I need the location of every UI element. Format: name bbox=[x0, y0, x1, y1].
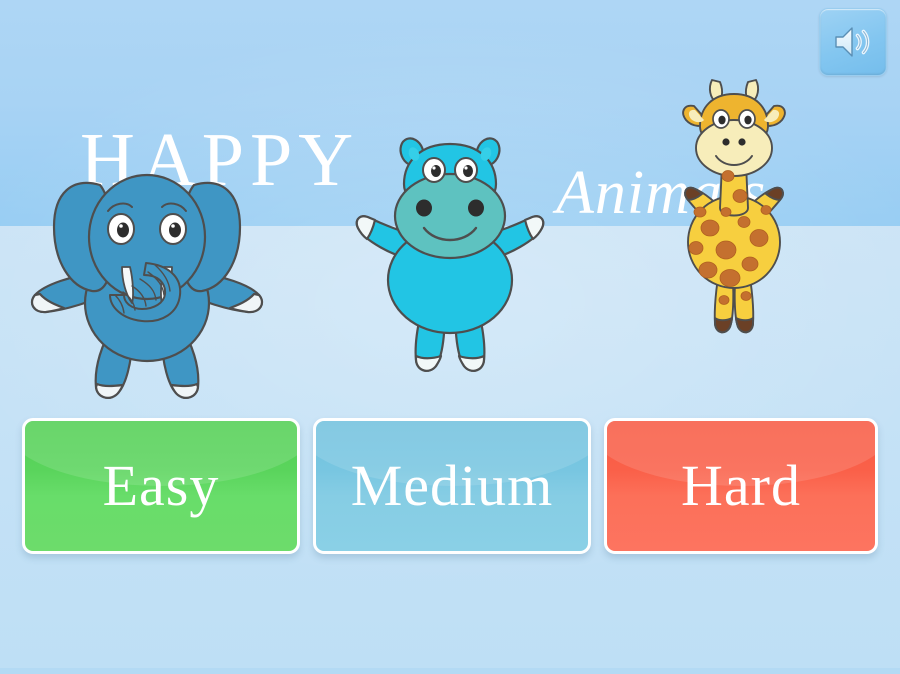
difficulty-button-easy-label: Easy bbox=[103, 457, 220, 515]
difficulty-button-row: Easy Medium Hard bbox=[0, 418, 900, 558]
difficulty-button-hard[interactable]: Hard bbox=[604, 418, 878, 554]
elephant-illustration[interactable] bbox=[22, 155, 272, 410]
speaker-on-icon bbox=[833, 23, 873, 61]
sound-toggle-button[interactable] bbox=[819, 8, 887, 76]
difficulty-button-medium-label: Medium bbox=[351, 457, 554, 515]
giraffe-illustration[interactable] bbox=[666, 72, 802, 349]
game-screen: Happy Animals bbox=[0, 0, 900, 674]
hippo-illustration[interactable] bbox=[352, 132, 548, 387]
difficulty-button-easy[interactable]: Easy bbox=[22, 418, 300, 554]
difficulty-button-medium[interactable]: Medium bbox=[313, 418, 591, 554]
background-bottom-edge bbox=[0, 668, 900, 674]
difficulty-button-hard-label: Hard bbox=[681, 457, 801, 515]
